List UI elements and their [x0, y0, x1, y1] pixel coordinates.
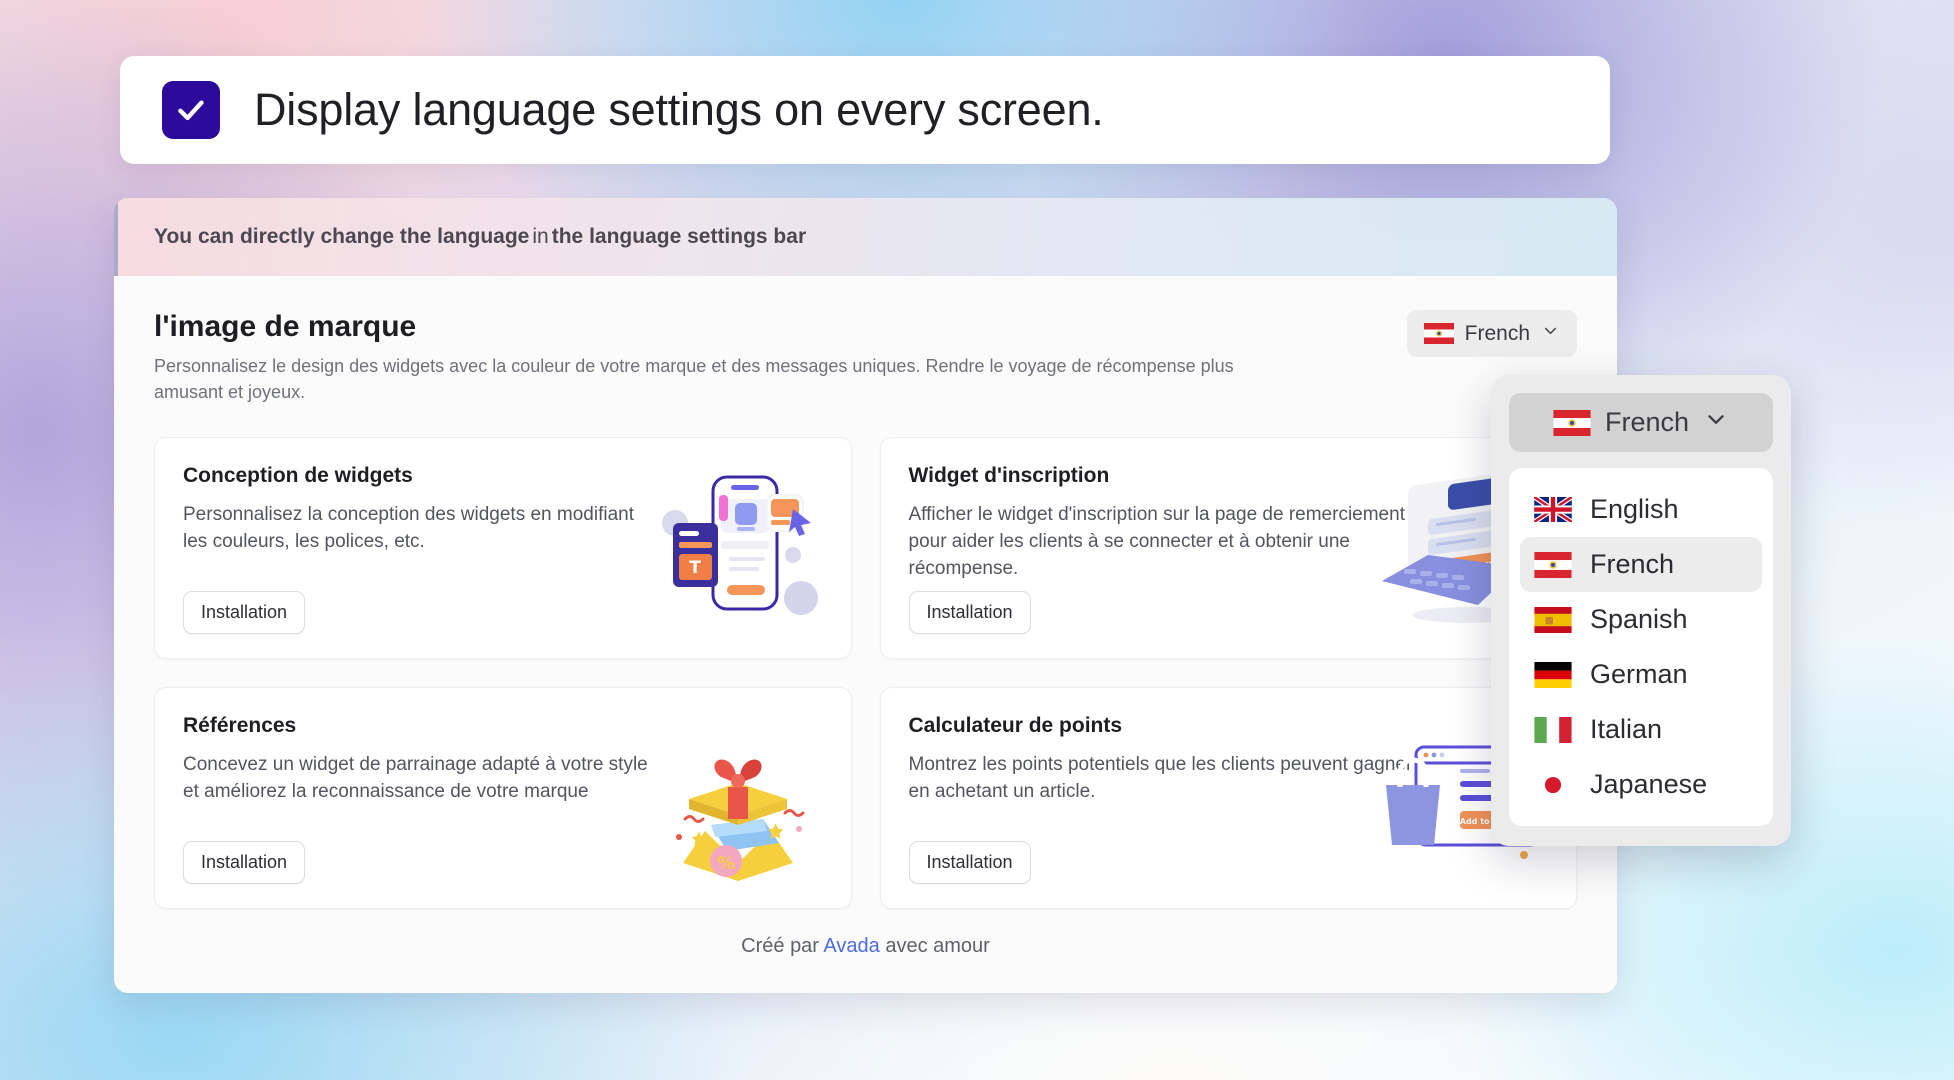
svg-text:%: %: [716, 853, 734, 874]
japan-flag-icon: [1534, 772, 1572, 798]
install-button[interactable]: Installation: [183, 591, 305, 634]
french-polynesia-flag-icon: [1424, 323, 1454, 344]
footer-credit: Créé par Avada avec amour: [154, 935, 1577, 958]
language-selector-chip[interactable]: French: [1407, 310, 1577, 357]
uk-flag-icon: [1534, 497, 1572, 522]
card-description: Montrez les points potentiels que les cl…: [909, 752, 1429, 806]
language-option-list: English French: [1509, 468, 1773, 826]
title-bar: Display language settings on every scree…: [120, 56, 1610, 164]
panel-body: l'image de marque Personnalisez le desig…: [114, 276, 1617, 993]
italy-flag-icon: [1534, 717, 1572, 743]
page-title: Display language settings on every scree…: [254, 84, 1104, 136]
settings-panel: You can directly change the language in …: [114, 198, 1617, 993]
display-language-checkbox[interactable]: [162, 81, 220, 139]
french-polynesia-flag-icon: [1534, 552, 1572, 578]
language-option-label: Japanese: [1590, 769, 1707, 800]
language-option-label: English: [1590, 494, 1679, 525]
germany-flag-icon: [1534, 662, 1572, 688]
card-signup-widget[interactable]: Widget d'inscription Afficher le widget …: [880, 437, 1578, 659]
language-option-german[interactable]: German: [1520, 647, 1762, 702]
install-button[interactable]: Installation: [183, 841, 305, 884]
language-option-label: French: [1590, 549, 1674, 580]
install-button[interactable]: Installation: [909, 591, 1031, 634]
brand-header-text: l'image de marque Personnalisez le desig…: [154, 310, 1284, 405]
language-option-english[interactable]: English: [1520, 482, 1762, 537]
language-option-label: German: [1590, 659, 1688, 690]
svg-text:Sign up: Sign up: [1450, 557, 1497, 577]
card-references[interactable]: Références Concevez un widget de parrain…: [154, 687, 852, 909]
spain-flag-icon: [1534, 607, 1572, 633]
card-points-calculator[interactable]: Calculateur de points Montrez les points…: [880, 687, 1578, 909]
gift-box-illustration: %: [643, 713, 833, 883]
notice-bold-tail: the language settings bar: [552, 225, 806, 249]
footer-suffix: avec amour: [885, 935, 990, 957]
footer-prefix: Créé par: [741, 935, 819, 957]
avada-link[interactable]: Avada: [823, 935, 879, 957]
language-option-french[interactable]: French: [1520, 537, 1762, 592]
card-title: Calculateur de points: [909, 714, 1549, 738]
widget-design-phone-illustration: T: [643, 463, 833, 633]
french-polynesia-flag-icon: [1553, 410, 1591, 436]
notice-bold-lead: You can directly change the language: [154, 225, 529, 249]
language-option-italian[interactable]: Italian: [1520, 702, 1762, 757]
card-description: Concevez un widget de parrainage adapté …: [183, 752, 663, 806]
notice-regular: in: [529, 225, 551, 249]
card-description: Personnalisez la conception des widgets …: [183, 502, 663, 556]
language-option-japanese[interactable]: Japanese: [1520, 757, 1762, 812]
card-title: Widget d'inscription: [909, 464, 1549, 488]
language-chip-label: French: [1465, 322, 1530, 346]
chevron-down-icon: [1703, 406, 1729, 439]
card-title: Références: [183, 714, 823, 738]
card-widget-design[interactable]: Conception de widgets Personnalisez la c…: [154, 437, 852, 659]
language-option-spanish[interactable]: Spanish: [1520, 592, 1762, 647]
feature-cards-grid: Conception de widgets Personnalisez la c…: [154, 437, 1577, 909]
brand-header-row: l'image de marque Personnalisez le desig…: [154, 310, 1577, 405]
chevron-down-icon: [1541, 321, 1560, 346]
language-option-label: Spanish: [1590, 604, 1688, 635]
checkmark-icon: [174, 93, 208, 127]
svg-text:T: T: [689, 558, 701, 578]
brand-description: Personnalisez le design des widgets avec…: [154, 354, 1284, 405]
card-title: Conception de widgets: [183, 464, 823, 488]
brand-title: l'image de marque: [154, 310, 1284, 344]
dropdown-trigger-label: French: [1605, 407, 1689, 438]
language-dropdown-overlay: French English: [1491, 375, 1791, 846]
card-description: Afficher le widget d'inscription sur la …: [909, 502, 1429, 583]
language-notice-bar: You can directly change the language in …: [114, 198, 1617, 276]
language-option-label: Italian: [1590, 714, 1662, 745]
language-dropdown-trigger[interactable]: French: [1509, 393, 1773, 452]
install-button[interactable]: Installation: [909, 841, 1031, 884]
